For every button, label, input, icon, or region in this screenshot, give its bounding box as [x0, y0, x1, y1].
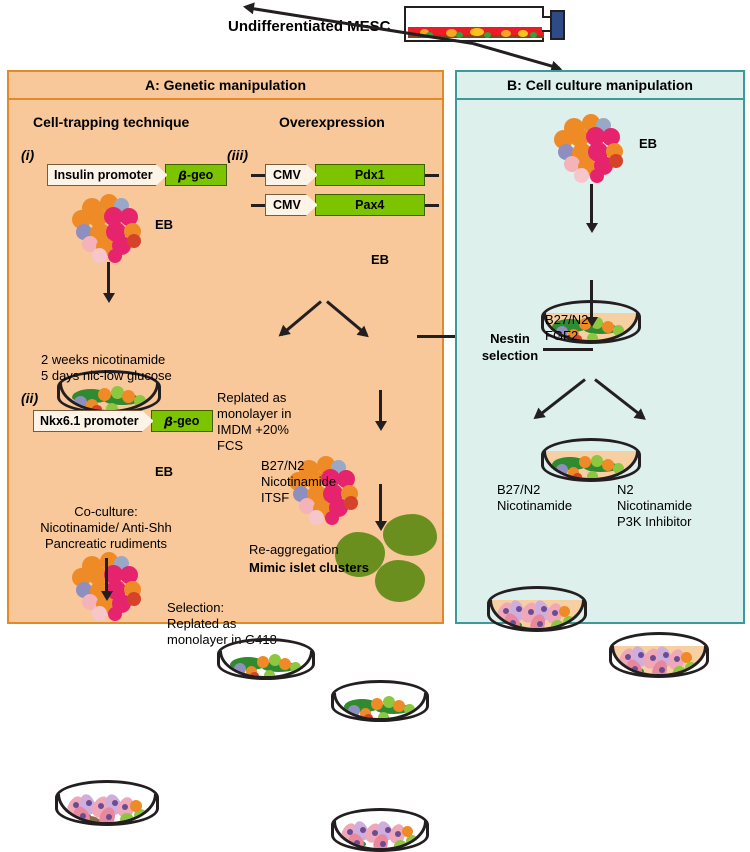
- arrow-iii-split-right: [326, 300, 368, 336]
- colony: [484, 32, 491, 38]
- construct-line-left: [251, 204, 265, 207]
- construct-cmv-pdx1: CMV Pdx1: [251, 164, 439, 186]
- nestin-line-b: [543, 348, 593, 351]
- panel-cell-culture-manipulation: B: Cell culture manipulation EB: [455, 70, 745, 624]
- arrow-i-to-dish: [107, 262, 110, 294]
- petri-dish-b-outcome-2: [609, 632, 709, 678]
- construct-line-right: [425, 204, 439, 207]
- panel-a-title: A: Genetic manipulation: [9, 72, 442, 100]
- petri-dish-iii-left: [217, 638, 315, 680]
- arrow-b-split-left: [535, 378, 586, 419]
- promoter-label: CMV: [265, 194, 318, 216]
- colony: [470, 28, 484, 36]
- step-marker-i: (i): [21, 147, 34, 163]
- arrow-b-split-right: [594, 378, 645, 419]
- arrow-b-eb-to-dish: [590, 184, 593, 224]
- islet-cluster: [383, 514, 437, 556]
- gene-label: Pdx1: [315, 164, 425, 186]
- gene-beta-geo: β-geo: [151, 410, 213, 432]
- outcome-caption-1: B27/N2 Nicotinamide: [497, 482, 572, 514]
- petri-dish-ii: [55, 780, 159, 826]
- islet-cluster: [375, 560, 425, 602]
- column-heading-cell-trapping: Cell-trapping technique: [33, 114, 189, 130]
- gene-label: Pax4: [315, 194, 425, 216]
- column-heading-overexpression: Overexpression: [279, 114, 385, 130]
- colony: [456, 32, 463, 38]
- construct-cmv-pax4: CMV Pax4: [251, 194, 439, 216]
- eb-cluster-i: [72, 194, 146, 262]
- petri-dish-b-nestin: [541, 438, 641, 482]
- eb-label-b: EB: [639, 136, 657, 152]
- arrow-b-to-nestin-dish: [590, 280, 593, 318]
- mimic-islet-label: Mimic islet clusters: [249, 560, 369, 576]
- arrow-iii-split-left: [280, 300, 322, 336]
- promoter-label: Nkx6.1 promoter: [33, 410, 154, 432]
- panel-genetic-manipulation: A: Genetic manipulation Cell-trapping te…: [7, 70, 444, 624]
- petri-dish-iii-differentiated: [331, 808, 429, 852]
- branch-arrow-right: [473, 42, 560, 70]
- reaggregation-label: Re-aggregation: [249, 542, 339, 558]
- media-label-b27n2-fgf2: B27/N2 FGF2: [545, 312, 588, 344]
- flask-cap: [550, 10, 565, 40]
- eb-label-ii: EB: [155, 464, 173, 480]
- arrow-iii-to-islets: [379, 484, 382, 522]
- gene-beta-geo: β-geo: [165, 164, 227, 186]
- petri-dish-b-outcome-1: [487, 586, 587, 632]
- nestin-selection-label: Nestin selection: [479, 330, 541, 364]
- dish-caption-iii-left: Replated as monolayer in IMDM +20% FCS: [217, 390, 291, 454]
- promoter-label: CMV: [265, 164, 318, 186]
- eb-cluster-ii: [72, 552, 146, 620]
- eb-label-i: EB: [155, 217, 173, 233]
- dish-caption-iii-right: B27/N2 Nicotinamide ITSF: [261, 458, 336, 506]
- arrow-iii-right-down: [379, 390, 382, 422]
- promoter-label: Insulin promoter: [47, 164, 168, 186]
- dish-caption-i: 2 weeks nicotinamide 5 days nic-low gluc…: [41, 352, 172, 384]
- petri-dish-iii-right: [331, 680, 429, 722]
- colony: [518, 30, 528, 37]
- coculture-caption: Co-culture: Nicotinamide/ Anti-Shh Pancr…: [31, 504, 181, 552]
- eb-label-iii: EB: [371, 252, 389, 268]
- beta-symbol: β: [164, 414, 173, 429]
- step-marker-iii: (iii): [227, 147, 248, 163]
- beta-symbol: β: [178, 168, 187, 183]
- arrow-ii-to-dish: [105, 558, 108, 592]
- panel-b-title: B: Cell culture manipulation: [457, 72, 743, 100]
- construct-line-left: [251, 174, 265, 177]
- colony: [530, 32, 537, 38]
- outcome-caption-2: N2 Nicotinamide P3K Inhibitor: [617, 482, 692, 530]
- eb-cluster-b: [554, 114, 628, 182]
- gene-suffix: -geo: [187, 168, 213, 182]
- construct-insulin-beta-geo: Insulin promoter β-geo: [47, 164, 227, 186]
- colony: [501, 30, 511, 37]
- gene-suffix: -geo: [173, 414, 199, 428]
- step-marker-ii: (ii): [21, 390, 38, 406]
- construct-line-right: [425, 174, 439, 177]
- construct-nkx61-beta-geo: Nkx6.1 promoter β-geo: [33, 410, 213, 432]
